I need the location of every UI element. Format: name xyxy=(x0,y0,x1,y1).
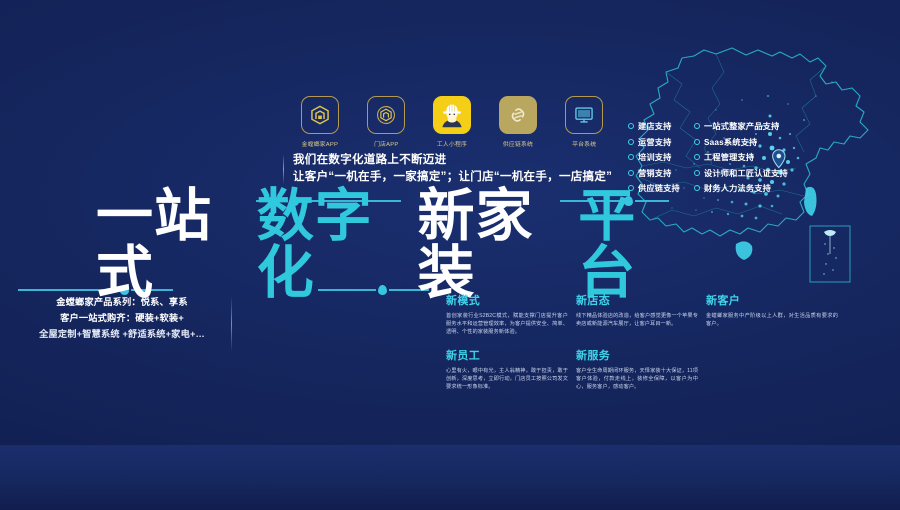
support-item: 营销支持 xyxy=(628,167,680,179)
feature-card-spacer xyxy=(706,347,838,392)
app-label: 金螳螂家APP xyxy=(302,140,338,149)
bullet-dot-icon xyxy=(628,139,634,145)
page-title: 一站式 数字化 新家装 平台 xyxy=(96,210,676,280)
support-column-right: 一站式整家产品支持 Saas系统支持 工程管理支持 设计师和工匠认证支持 财务人… xyxy=(694,120,788,194)
headline-part-1: 数字化 xyxy=(257,188,404,302)
support-label: 一站式整家产品支持 xyxy=(704,120,780,132)
card-body: 首创家装行业S2B2C模式，赋能支撑门店提升客户服务水平和运营管理效率，为客户提… xyxy=(446,312,568,337)
support-item: 运营支持 xyxy=(628,136,680,148)
app-item-0[interactable]: 金螳螂家APP xyxy=(298,96,342,148)
app-label: 门店APP xyxy=(374,140,398,149)
headline-part-0: 一站式 xyxy=(96,188,243,302)
support-item: 建店支持 xyxy=(628,120,680,132)
bullet-dot-icon xyxy=(628,170,634,176)
feature-card-new-staff: 新员工 心里有火，眼中有光，主人翁精神，敢于担责，敢于创新，深度思考，立即行动，… xyxy=(446,347,568,392)
support-item: 一站式整家产品支持 xyxy=(694,120,788,132)
app-label: 供应链系统 xyxy=(503,140,533,149)
support-label: 财务人力法务支持 xyxy=(704,182,771,194)
support-label: 建店支持 xyxy=(638,120,672,132)
support-label: 营销支持 xyxy=(638,167,672,179)
card-title: 新模式 xyxy=(446,292,568,308)
support-label: 培训支持 xyxy=(638,151,672,163)
app-label: 工人小程序 xyxy=(437,140,467,149)
hexagon-house-logo-icon xyxy=(301,96,339,134)
card-title: 新服务 xyxy=(576,347,698,363)
feature-card-new-model: 新模式 首创家装行业S2B2C模式，赋能支撑门店提升客户服务水平和运营管理效率，… xyxy=(446,292,568,337)
headline-part-3: 平台 xyxy=(578,188,676,302)
support-item: 工程管理支持 xyxy=(694,151,788,163)
feature-cards: 新模式 首创家装行业S2B2C模式，赋能支撑门店提升客户服务水平和运营管理效率，… xyxy=(446,292,866,391)
bullet-dot-icon xyxy=(694,123,700,129)
feature-cards-row-2: 新员工 心里有火，眼中有光，主人翁精神，敢于担责，敢于创新，深度思考，立即行动，… xyxy=(446,347,866,392)
feature-card-new-customer: 新客户 金螳螂家服务中产阶级以上人群，对生活品质有要求的客户。 xyxy=(706,292,838,337)
app-item-3[interactable]: 供应链系统 xyxy=(496,96,540,148)
support-label: 运营支持 xyxy=(638,136,672,148)
product-line-2: 客户一站式购齐：硬装+软装+ xyxy=(20,310,224,326)
app-icon-row: 金螳螂家APP 门店APP xyxy=(298,96,606,148)
card-title: 新员工 xyxy=(446,347,568,363)
card-body: 客户全生命周期闭环服务，天怿家装十大保证，11项客户体验，付款走线上，装修全保障… xyxy=(576,367,698,392)
support-label: 设计师和工匠认证支持 xyxy=(704,167,788,179)
product-series-block: 金螳螂家产品系列：悦系、享系 客户一站式购齐：硬装+软装+ 全屋定制+智慧系统 … xyxy=(20,294,232,342)
bottom-band xyxy=(0,446,900,510)
card-title: 新客户 xyxy=(706,292,838,308)
hexagon-house-circle-icon xyxy=(367,96,405,134)
poster-canvas: 金螳螂家APP 门店APP xyxy=(0,0,900,510)
bullet-dot-icon xyxy=(694,170,700,176)
support-item: 财务人力法务支持 xyxy=(694,182,788,194)
slogan-block: 我们在数字化道路上不断迈进 让客户“一机在手，一家搞定”；让门店“一机在手，一店… xyxy=(283,152,612,186)
support-label: 工程管理支持 xyxy=(704,151,754,163)
slogan-line-1: 我们在数字化道路上不断迈进 xyxy=(293,152,612,169)
product-line-3: 全屋定制+智慧系统 +舒适系统+家电+… xyxy=(20,326,224,342)
support-item: 培训支持 xyxy=(628,151,680,163)
bullet-dot-icon xyxy=(694,185,700,191)
desktop-monitor-icon xyxy=(565,96,603,134)
feature-card-new-service: 新服务 客户全生命周期闭环服务，天怿家装十大保证，11项客户体验，付款走线上，装… xyxy=(576,347,698,392)
bullet-dot-icon xyxy=(628,123,634,129)
card-title: 新店态 xyxy=(576,292,698,308)
app-item-1[interactable]: 门店APP xyxy=(364,96,408,148)
card-body: 线下精品体验店的改造，给客户感觉更像一个苹果专卖店或新能源汽车展厅，让客户耳目一… xyxy=(576,312,698,328)
worker-hardhat-icon xyxy=(433,96,471,134)
chain-links-icon xyxy=(499,96,537,134)
support-item: Saas系统支持 xyxy=(694,136,788,148)
support-label: Saas系统支持 xyxy=(704,136,757,148)
app-item-2[interactable]: 工人小程序 xyxy=(430,96,474,148)
headline-part-2: 新家装 xyxy=(417,188,564,302)
bullet-dot-icon xyxy=(628,154,634,160)
feature-cards-row-1: 新模式 首创家装行业S2B2C模式，赋能支撑门店提升客户服务水平和运营管理效率，… xyxy=(446,292,866,337)
app-label: 平台系统 xyxy=(572,140,596,149)
card-body: 心里有火，眼中有光，主人翁精神，敢于担责，敢于创新，深度思考，立即行动，门店员工… xyxy=(446,367,568,392)
product-line-1: 金螳螂家产品系列：悦系、享系 xyxy=(20,294,224,310)
bullet-dot-icon xyxy=(694,154,700,160)
card-body: 金螳螂家服务中产阶级以上人群，对生活品质有要求的客户。 xyxy=(706,312,838,328)
app-item-4[interactable]: 平台系统 xyxy=(562,96,606,148)
bullet-dot-icon xyxy=(694,139,700,145)
support-lists: 建店支持 运营支持 培训支持 营销支持 供应链支持 一站式整家产品支持 xyxy=(628,120,788,194)
support-item: 设计师和工匠认证支持 xyxy=(694,167,788,179)
feature-card-new-store: 新店态 线下精品体验店的改造，给客户感觉更像一个苹果专卖店或新能源汽车展厅，让客… xyxy=(576,292,698,337)
